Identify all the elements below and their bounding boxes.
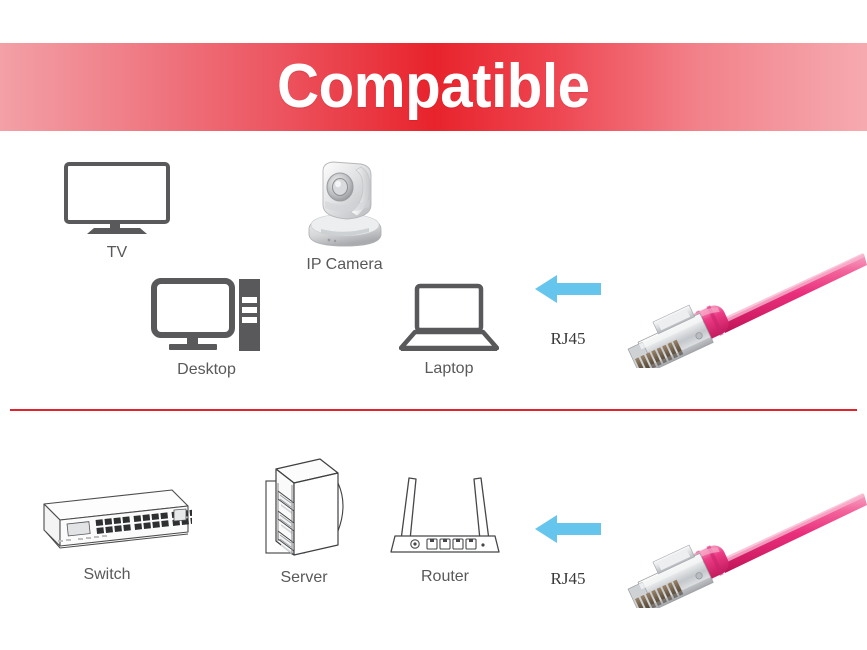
device-laptop: Laptop — [390, 282, 508, 378]
device-ip-camera: IP Camera — [282, 155, 407, 274]
device-tv: TV — [47, 160, 187, 262]
arrow-left-icon — [523, 272, 613, 311]
network-switch-icon — [22, 470, 192, 560]
rj45-connector-bottom: RJ45 — [523, 512, 613, 589]
device-label: Server — [249, 569, 359, 587]
device-label: Router — [385, 568, 505, 586]
device-label: Switch — [22, 566, 192, 584]
device-desktop: Desktop — [140, 275, 273, 379]
device-label: Desktop — [140, 361, 273, 379]
header-banner: Compatible — [0, 43, 867, 131]
server-rack-icon — [249, 455, 359, 563]
rj45-label: RJ45 — [523, 569, 613, 589]
pink-patch-cable-bottom — [624, 488, 867, 613]
tv-icon — [47, 160, 187, 238]
pink-patch-cable-top — [624, 248, 867, 373]
device-label: IP Camera — [282, 256, 407, 274]
device-label: Laptop — [390, 360, 508, 378]
desktop-icon — [140, 275, 273, 355]
device-router: Router — [385, 462, 505, 586]
section-divider — [10, 409, 857, 411]
arrow-left-icon — [523, 512, 613, 551]
page-title: Compatible — [277, 56, 590, 118]
rj45-label: RJ45 — [523, 329, 613, 349]
rj45-connector-top: RJ45 — [523, 272, 613, 349]
wifi-router-icon — [385, 462, 505, 562]
device-switch: Switch — [22, 470, 192, 584]
ip-camera-icon — [282, 155, 407, 250]
device-server: Server — [249, 455, 359, 587]
laptop-icon — [390, 282, 508, 354]
device-label: TV — [47, 244, 187, 262]
